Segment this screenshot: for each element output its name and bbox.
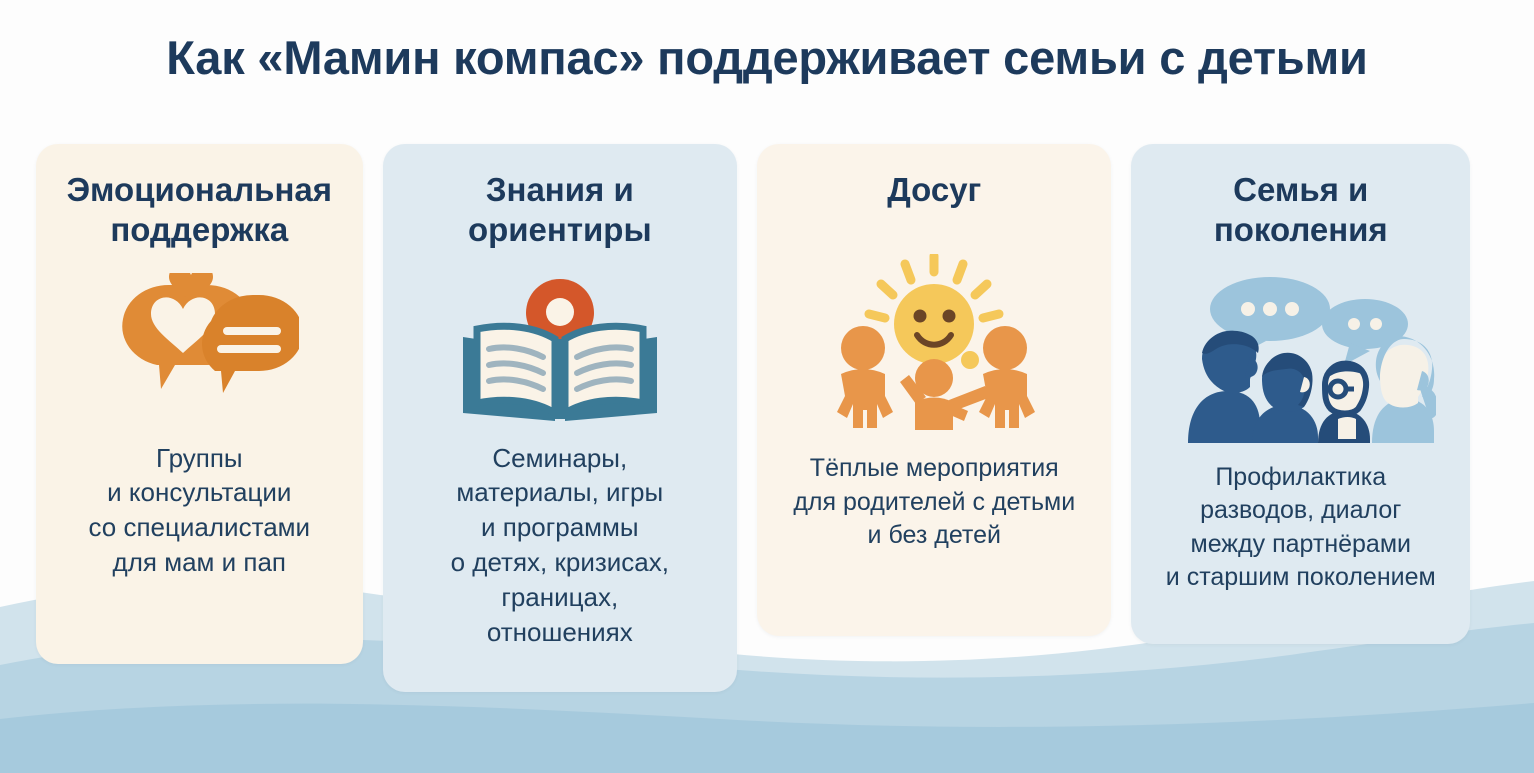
card-body-line: отношениях xyxy=(451,615,669,650)
card-body-line: для родителей с детьми xyxy=(793,486,1075,520)
card-body-line: границах, xyxy=(451,580,669,615)
open-book-map-pin-icon xyxy=(455,273,665,423)
card-title-line-2: поколения xyxy=(1214,210,1388,250)
card-body-line: и консультации xyxy=(89,475,311,510)
page-title-wrap: Как «Мамин компас» поддерживает семьи с … xyxy=(0,30,1534,85)
person-young-woman xyxy=(1372,336,1436,443)
infographic-canvas: Как «Мамин компас» поддерживает семьи с … xyxy=(0,0,1534,773)
card-body-line: и программы xyxy=(451,510,669,545)
card-title-family-generations: Семья и поколения xyxy=(1210,170,1392,251)
card-body-line: для мам и пап xyxy=(89,545,311,580)
card-body-line: о детях, кризисах, xyxy=(451,545,669,580)
card-body-leisure: Тёплые мероприятия для родителей с детьм… xyxy=(791,452,1077,553)
card-body-emotional-support: Группы и консультации со специалистами д… xyxy=(87,441,313,580)
card-title-line-1: Эмоциональная xyxy=(67,170,332,210)
card-body-line: Семинары, xyxy=(451,441,669,476)
family-generations-dialog-icon xyxy=(1166,273,1436,443)
card-title-knowledge-guidance: Знания и ориентиры xyxy=(464,170,656,251)
person-woman xyxy=(1252,352,1318,442)
card-body-line: Группы xyxy=(89,441,311,476)
card-title-line-2: поддержка xyxy=(67,210,332,250)
page-title: Как «Мамин компас» поддерживает семьи с … xyxy=(166,30,1368,85)
card-body-line: Тёплые мероприятия xyxy=(793,452,1075,486)
card-title-line-1: Досуг xyxy=(887,170,981,210)
card-title-line-1: Семья и xyxy=(1214,170,1388,210)
card-leisure[interactable]: Досуг xyxy=(757,144,1111,636)
card-body-line: Профилактика xyxy=(1166,461,1436,495)
card-title-emotional-support: Эмоциональная поддержка xyxy=(63,170,336,251)
person-elder xyxy=(1318,360,1370,442)
person-man xyxy=(1188,330,1260,442)
heart-speech-bubbles-icon xyxy=(99,273,299,423)
card-body-line: и без детей xyxy=(793,519,1075,553)
card-body-knowledge-guidance: Семинары, материалы, игры и программы о … xyxy=(449,441,671,650)
card-body-family-generations: Профилактика разводов, диалог между парт… xyxy=(1164,461,1438,595)
card-body-line: между партнёрами xyxy=(1166,528,1436,562)
card-title-line-2: ориентиры xyxy=(468,210,652,250)
card-knowledge-guidance[interactable]: Знания и ориентиры xyxy=(383,144,737,692)
family-sun-icon xyxy=(819,254,1049,430)
card-body-line: материалы, игры xyxy=(451,475,669,510)
card-emotional-support[interactable]: Эмоциональная поддержка xyxy=(36,144,363,664)
card-title-line-1: Знания и xyxy=(468,170,652,210)
card-body-line: разводов, диалог xyxy=(1166,494,1436,528)
card-body-line: со специалистами xyxy=(89,510,311,545)
card-body-line: и старшим поколением xyxy=(1166,561,1436,595)
card-family-generations[interactable]: Семья и поколения xyxy=(1131,144,1470,644)
card-title-leisure: Досуг xyxy=(883,170,985,210)
cards-row: Эмоциональная поддержка xyxy=(36,144,1470,692)
